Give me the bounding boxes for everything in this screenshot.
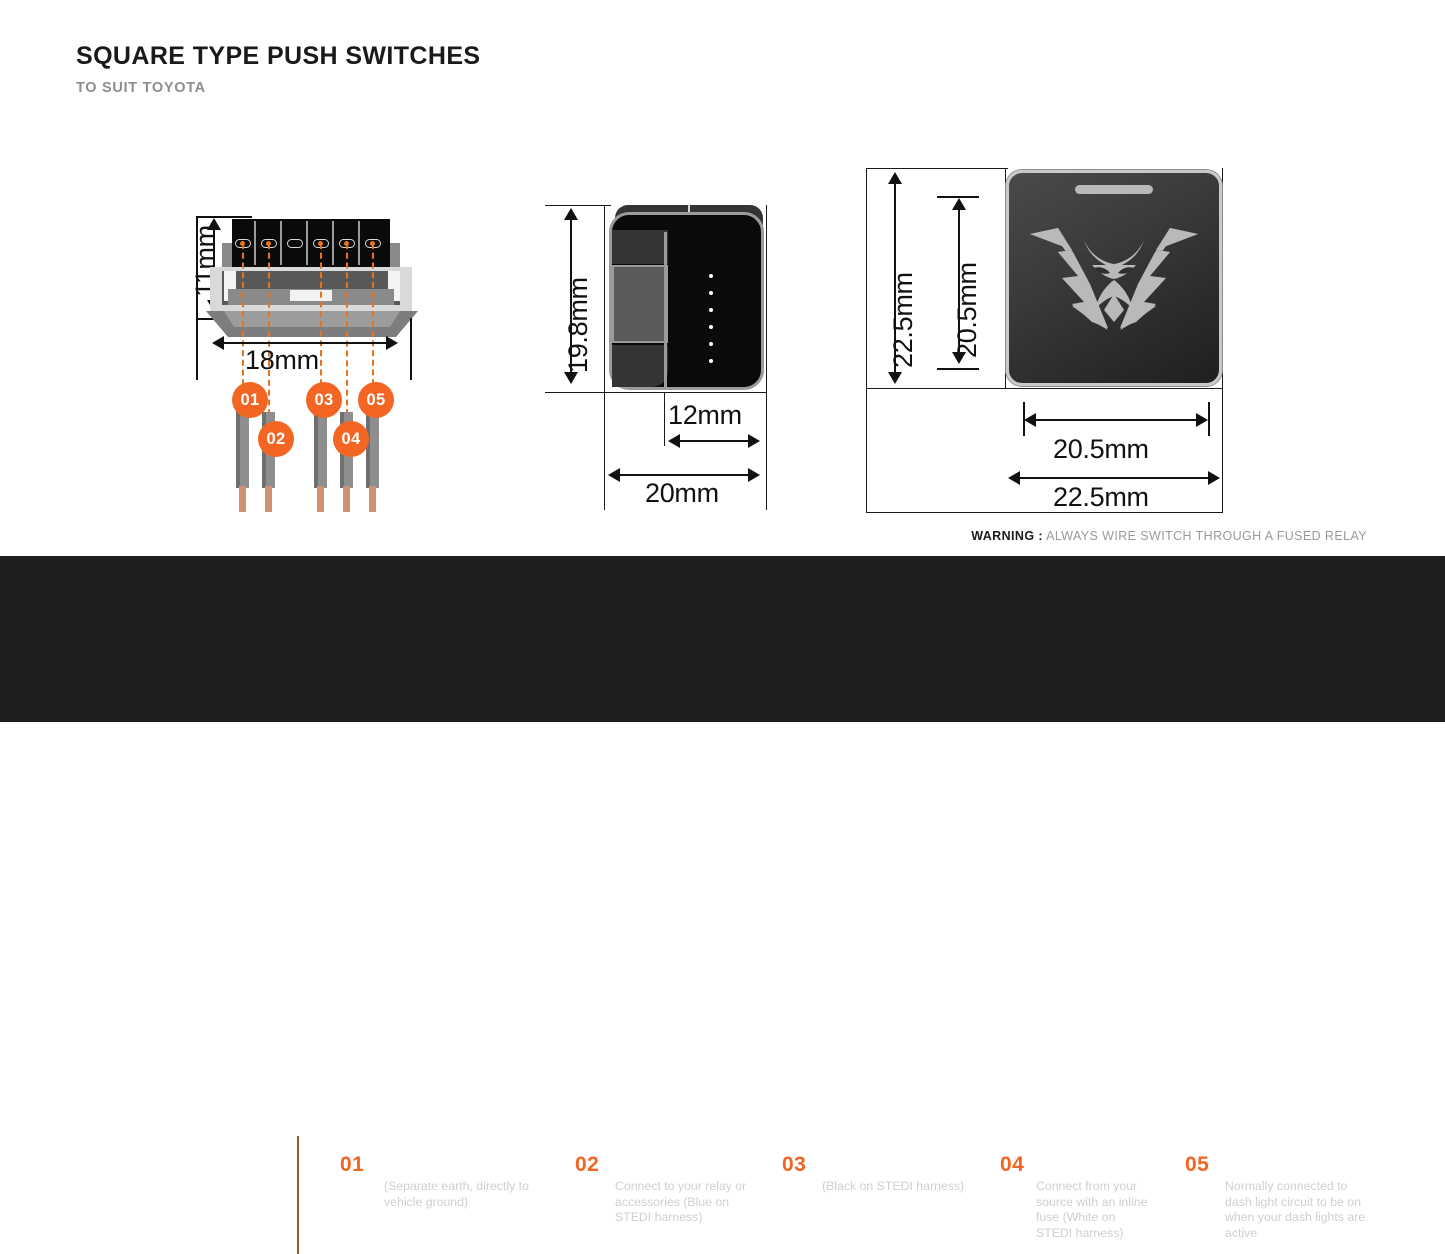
wiring-points-footer: WIRING POINTS 01 VEHICLE GROUND (Separat…	[0, 556, 1445, 722]
pin-badge-03: 03	[306, 382, 342, 418]
switch-side-dot-3	[709, 308, 713, 312]
dim-18mm-arrow-right	[386, 336, 398, 350]
dim-20_5mm-h-arrow-right	[1196, 413, 1208, 427]
pin-wire-4	[343, 486, 350, 512]
dim-22_5mm-h-arrow-left	[1008, 471, 1020, 485]
pin-badge-02: 02	[258, 421, 294, 457]
dim-label-20_5mm-horizontal: 20.5mm	[1053, 434, 1149, 465]
dim-20mm-arrow-right	[748, 468, 760, 482]
wiring-point-04-title: SOURCE	[1036, 1154, 1102, 1171]
wiring-point-04-desc: Connect from your source with an inline …	[1036, 1179, 1148, 1241]
dim-20_5mm-h-arrowline	[1034, 419, 1198, 421]
dim-label-20mm: 20mm	[645, 478, 719, 509]
fv-frame-bottom-2	[866, 512, 1223, 513]
dim-20_5mm-h-arrow-left	[1024, 413, 1036, 427]
terminal-slot-3-empty	[287, 239, 303, 248]
dim-12mm-arrow-left	[668, 434, 680, 448]
dim-20mm-arrowline	[618, 474, 750, 476]
switch-side-panel-middle	[612, 265, 668, 343]
sv-frame-bottom-left	[545, 392, 611, 393]
page-subtitle: TO SUIT TOYOTA	[76, 80, 206, 96]
footer-title: WIRING POINTS	[88, 1181, 303, 1207]
diagram-page: SQUARE TYPE PUSH SWITCHES TO SUIT TOYOTA…	[0, 0, 1445, 722]
trace-line-2	[268, 243, 270, 425]
dim-22_5mm-v-arrow-down	[888, 372, 902, 384]
fv-frame-right	[1222, 168, 1223, 513]
connector-label-chip	[290, 290, 332, 301]
wiring-point-03-desc: (Black on STEDI harness)	[822, 1179, 987, 1195]
fv-frame-bottom	[866, 388, 1222, 389]
switch-face-indicator-bar	[1075, 185, 1153, 194]
sv-frame-vert-mid	[664, 392, 665, 446]
pin-wire-1	[239, 486, 246, 512]
switch-side-dot-2	[709, 291, 713, 295]
sv-frame-vert-right	[766, 205, 767, 510]
switch-side-panel-bottom	[612, 345, 668, 387]
dim-22_5mm-v-arrow-up	[888, 172, 902, 184]
wiring-point-05-number: 05	[1185, 1153, 1209, 1177]
dim-12mm-arrow-right	[748, 434, 760, 448]
dim-20mm-arrow-left	[608, 468, 620, 482]
sv-frame-bottom	[604, 392, 767, 393]
dim-11mm-tick-top	[196, 216, 252, 218]
fv-frame-left	[866, 168, 867, 513]
switch-side-divider	[664, 232, 667, 387]
dim-20_5mm-v-tick-bottom	[937, 368, 979, 370]
switch-side-dot-6	[709, 359, 713, 363]
footer-divider	[297, 1136, 299, 1254]
dim-label-22_5mm-horizontal: 22.5mm	[1053, 482, 1149, 513]
trace-line-4	[346, 243, 348, 425]
dim-22_5mm-h-arrowline	[1018, 477, 1210, 479]
dim-label-22_5mm-vertical: 22.5mm	[888, 272, 919, 368]
pin-badge-05: 05	[358, 382, 394, 418]
wiring-point-01-number: 01	[340, 1153, 364, 1177]
wiring-point-03-number: 03	[782, 1153, 806, 1177]
trace-line-1	[242, 243, 244, 395]
warning-text: ALWAYS WIRE SWITCH THROUGH A FUSED RELAY	[1046, 529, 1367, 543]
dim-18mm-arrowline	[222, 342, 388, 344]
dim-19_8mm-arrow-up	[564, 208, 578, 220]
stedi-owl-logo-icon	[1028, 218, 1200, 334]
wiring-point-04-number: 04	[1000, 1153, 1024, 1177]
page-title: SQUARE TYPE PUSH SWITCHES	[76, 42, 481, 71]
warning-note: WARNING : ALWAYS WIRE SWITCH THROUGH A F…	[971, 529, 1367, 543]
wiring-point-01-title: VEHICLE GROUND	[384, 1154, 524, 1171]
dim-18mm-extline-left	[196, 318, 198, 380]
pin-wire-5	[369, 486, 376, 512]
fv-frame-top	[866, 168, 1008, 169]
wiring-point-05-desc: Normally connected to dash light circuit…	[1225, 1179, 1370, 1241]
dim-19_8mm-arrow-down	[564, 372, 578, 384]
switch-side-panel-top	[612, 230, 668, 264]
warning-label: WARNING :	[971, 529, 1043, 543]
sv-frame-top-left	[545, 205, 611, 206]
dim-20_5mm-v-arrow-up	[952, 198, 966, 210]
trace-line-3	[320, 243, 322, 395]
sv-frame-vert-left	[604, 205, 605, 510]
wiring-point-03-title: EARTH / GROUND	[822, 1154, 957, 1171]
dim-20_5mm-h-tick-right	[1208, 402, 1210, 436]
dim-label-20_5mm-vertical: 20.5mm	[952, 262, 983, 358]
wiring-point-02-desc: Connect to your relay or accessories (Bl…	[615, 1179, 755, 1226]
wiring-point-01-desc: (Separate earth, directly to vehicle gro…	[384, 1179, 554, 1210]
trace-line-5	[372, 243, 374, 395]
switch-side-dot-5	[709, 342, 713, 346]
pin-badge-01: 01	[232, 382, 268, 418]
wiring-point-02-title: RELAY	[615, 1154, 666, 1171]
switch-side-dot-1	[709, 274, 713, 278]
dim-18mm-arrow-left	[212, 336, 224, 350]
pin-badge-04: 04	[333, 421, 369, 457]
dim-label-12mm: 12mm	[668, 400, 742, 431]
dim-12mm-arrowline	[678, 440, 750, 442]
dim-label-18mm: 18mm	[245, 345, 319, 376]
dim-22_5mm-h-arrow-right	[1208, 471, 1220, 485]
dim-18mm-extline-right	[410, 318, 412, 380]
wiring-point-02-number: 02	[575, 1153, 599, 1177]
dim-label-19_8mm: 19.8mm	[563, 277, 594, 373]
wiring-point-05-title: DASH LIGHT ON	[1225, 1154, 1347, 1171]
pin-wire-2	[265, 486, 272, 512]
pin-wire-3	[317, 486, 324, 512]
switch-side-dot-4	[709, 325, 713, 329]
